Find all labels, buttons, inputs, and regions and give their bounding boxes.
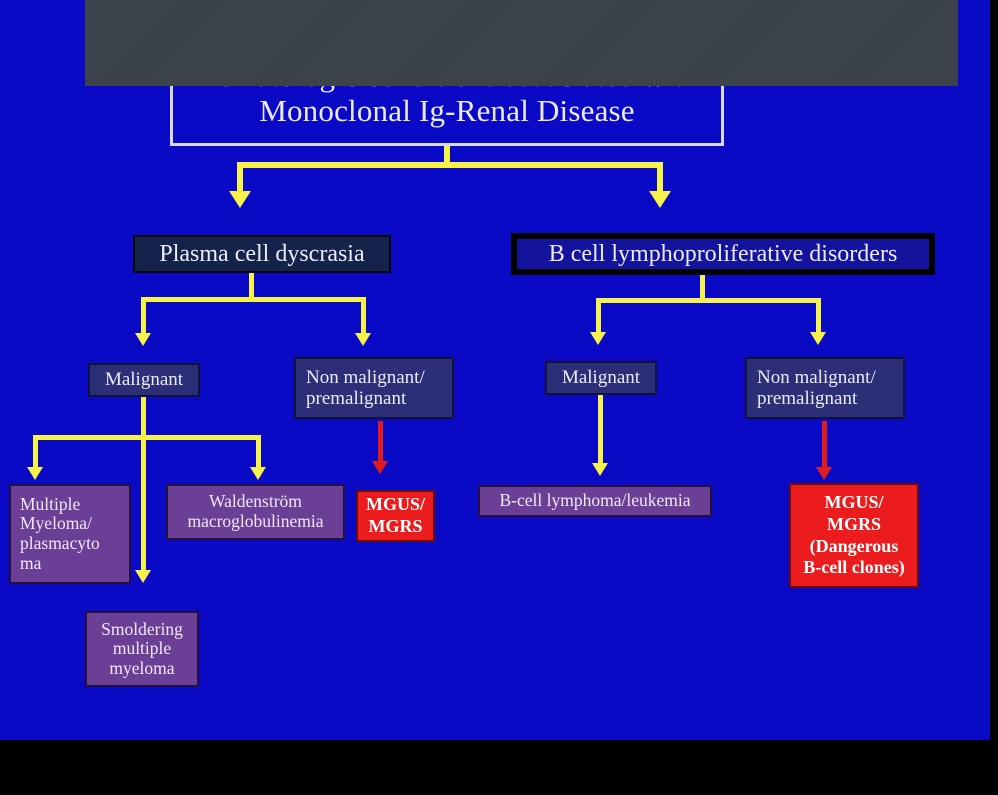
- connector-bcell-to-nonmalignant: [816, 298, 821, 334]
- occluding-overlay: [85, 0, 958, 86]
- connector-bcell-to-malignant: [596, 298, 601, 334]
- node-mgus-mgrs-left[interactable]: MGUS/ MGRS: [356, 490, 435, 542]
- node-malignant-right[interactable]: Malignant: [545, 361, 657, 395]
- slide-canvas: Hematologic conditions associated with M…: [0, 0, 998, 795]
- connector-title-to-bcell: [657, 162, 663, 193]
- connector-title-to-plasma: [237, 162, 243, 193]
- arrow-malignant-to-waldenstrom: [250, 467, 266, 480]
- connector-malignant-left-bar: [33, 435, 261, 440]
- node-non-malignant-premalignant-right[interactable]: Non malignant/ premalignant: [745, 357, 905, 419]
- arrow-nonmalignant-right-to-mgus: [816, 467, 832, 480]
- arrow-malignant-right-to-lymphoma: [592, 463, 608, 476]
- connector-nonmalignant-right-to-mgus: [822, 421, 827, 469]
- bottom-black-bar: [0, 740, 998, 795]
- node-mgus-mgrs-right[interactable]: MGUS/ MGRS (Dangerous B-cell clones): [789, 483, 919, 588]
- right-black-bar: [990, 0, 998, 795]
- node-plasma-cell-dyscrasia[interactable]: Plasma cell dyscrasia: [133, 235, 391, 273]
- node-malignant-left[interactable]: Malignant: [88, 363, 200, 397]
- connector-plasma-bar: [141, 297, 366, 302]
- arrow-nonmalignant-left-to-mgus: [372, 461, 388, 474]
- connector-plasma-to-malignant: [141, 297, 146, 335]
- connector-nonmalignant-left-to-mgus: [378, 421, 383, 463]
- arrow-malignant-to-smoldering: [135, 570, 151, 583]
- node-waldenstrom-macroglobulinemia[interactable]: Waldenström macroglobulinemia: [166, 484, 345, 540]
- connector-plasma-stub: [249, 273, 254, 300]
- node-non-malignant-premalignant-left[interactable]: Non malignant/ premalignant: [294, 357, 454, 419]
- connector-malignant-to-myeloma: [33, 435, 38, 469]
- arrow-title-to-plasma: [229, 191, 251, 208]
- arrow-plasma-to-nonmalignant: [355, 333, 371, 346]
- connector-bcell-bar: [596, 298, 821, 303]
- diagram-background: Hematologic conditions associated with M…: [0, 0, 990, 740]
- arrow-plasma-to-malignant: [135, 333, 151, 346]
- node-b-cell-lymphoproliferative-disorders[interactable]: B cell lymphoproliferative disorders: [511, 233, 935, 275]
- node-multiple-myeloma-plasmacytoma[interactable]: Multiple Myeloma/ plasmacyto ma: [9, 484, 131, 584]
- connector-malignant-to-waldenstrom: [256, 435, 261, 469]
- title-line-2: Monoclonal Ig-Renal Disease: [259, 94, 635, 129]
- connector-plasma-to-nonmalignant: [361, 297, 366, 335]
- node-smoldering-multiple-myeloma[interactable]: Smoldering multiple myeloma: [85, 611, 199, 687]
- connector-title-bar: [237, 162, 663, 168]
- arrow-malignant-to-myeloma: [27, 467, 43, 480]
- connector-malignant-to-smoldering: [141, 397, 146, 573]
- node-b-cell-lymphoma-leukemia[interactable]: B-cell lymphoma/leukemia: [478, 485, 712, 517]
- arrow-bcell-to-malignant: [590, 332, 606, 345]
- arrow-title-to-bcell: [649, 191, 671, 208]
- arrow-bcell-to-nonmalignant: [810, 332, 826, 345]
- connector-malignant-right-to-lymphoma: [598, 395, 603, 465]
